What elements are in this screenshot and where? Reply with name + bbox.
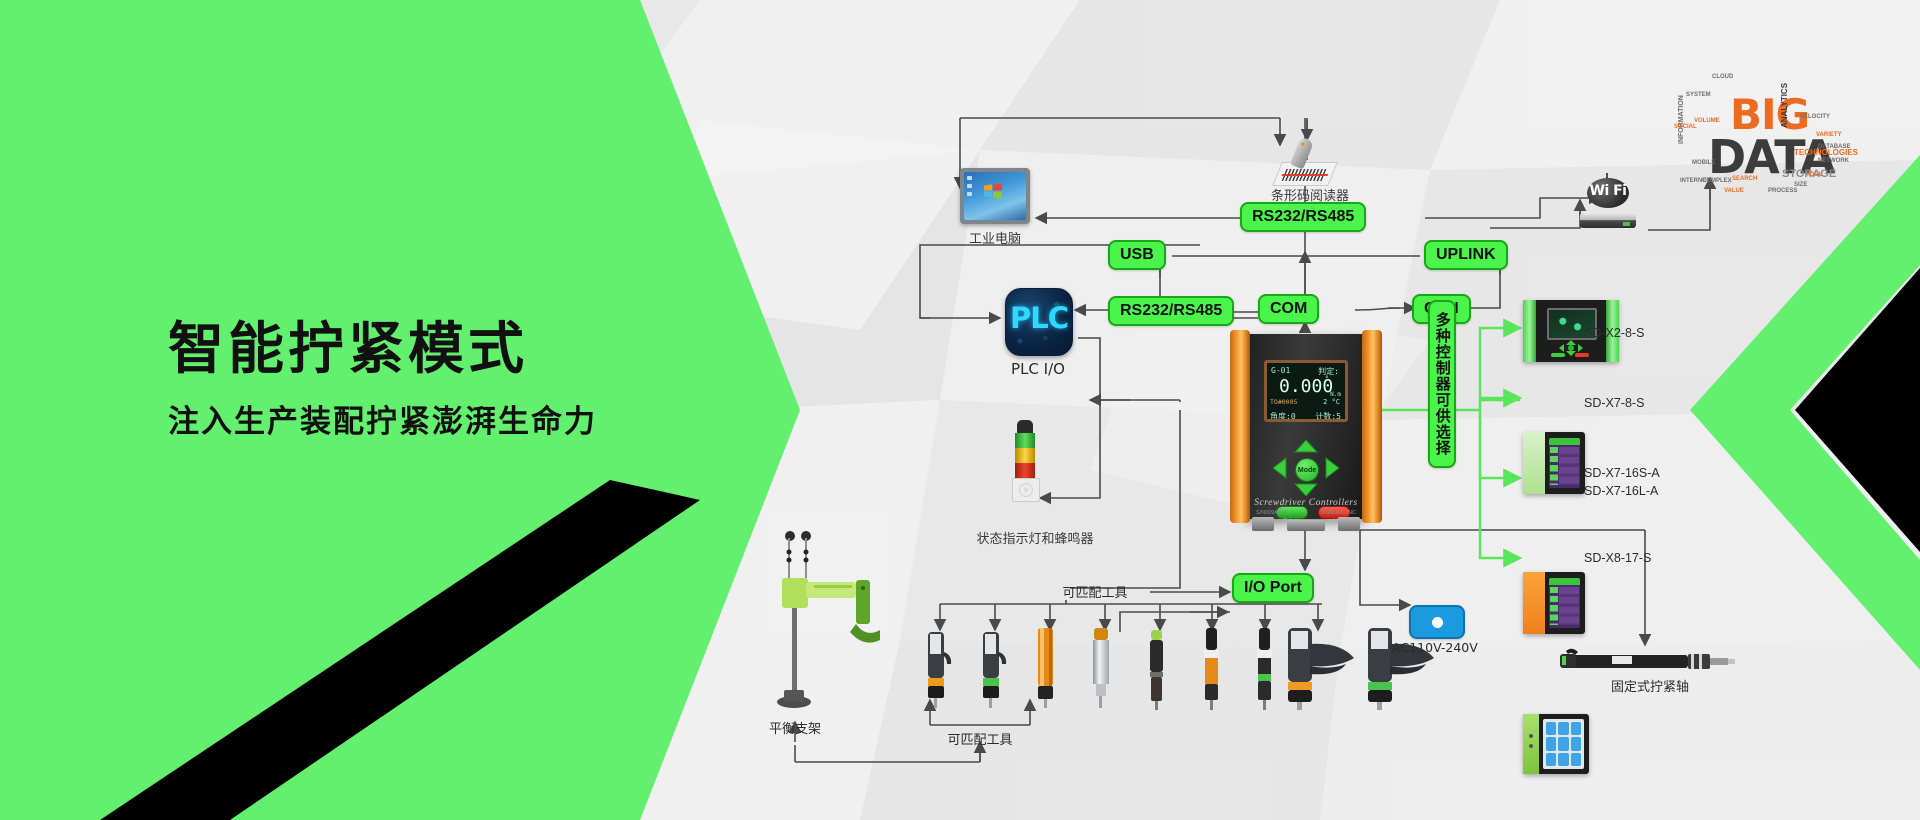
lcd-program: G-01: [1271, 366, 1290, 375]
device-dpad-icon: [1559, 340, 1583, 361]
windows-logo-icon: [984, 183, 1002, 199]
ac-power-label: AC110V-240V: [1380, 640, 1490, 655]
tool-icon: [970, 630, 1010, 708]
plc-io-label: PLC I/O: [990, 360, 1086, 378]
tool-pistol-1[interactable]: [1280, 628, 1358, 710]
controller-rail-left: [1230, 330, 1250, 523]
device-sd-x7-8-s[interactable]: [1523, 432, 1585, 494]
controller-keypad[interactable]: Mode: [1273, 440, 1339, 496]
screen-tile: [1571, 737, 1581, 750]
main-controller[interactable]: G-01 判定: 0.000 ° N.m TO#0005 2 °C 角度:0 计…: [1230, 330, 1382, 530]
screen-menu: [1550, 587, 1558, 625]
label-uplink[interactable]: UPLINK: [1424, 240, 1508, 270]
desktop-icon: [967, 184, 972, 188]
model-label-sd-x2-8-s: SD-X2-8-S: [1584, 325, 1644, 342]
device-screen: [1549, 438, 1580, 488]
tool-screwdriver-6[interactable]: [1190, 628, 1230, 710]
screen-tile: [1571, 722, 1581, 735]
plc-io-node[interactable]: PLC: [1005, 288, 1073, 356]
device-led: [1529, 744, 1533, 748]
industrial-pc-label: 工业电脑: [940, 228, 1050, 247]
bigdata-word: INTERNET: [1680, 178, 1710, 184]
tool-icon: [1280, 628, 1358, 710]
screen-titlebar: [1549, 578, 1580, 585]
stack-light-green: [1015, 433, 1035, 448]
tool-icon: [1243, 628, 1283, 710]
stack-light[interactable]: [1015, 420, 1035, 498]
screen-tile: [1558, 722, 1568, 735]
balance-stand-label: 平衡支架: [735, 718, 855, 737]
tool-screwdriver-7[interactable]: [1243, 628, 1283, 710]
lcd-job: TO#0005: [1270, 398, 1297, 406]
page-subtitle: 注入生产装配拧紧澎湃生命力: [168, 396, 597, 441]
lcd-angle: 角度:0: [1270, 411, 1296, 422]
stack-light-icon: [1015, 420, 1035, 498]
label-rs232-top[interactable]: RS232/RS485: [1240, 202, 1366, 232]
lcd-temp: 2 °C: [1323, 398, 1340, 406]
bigdata-word: CLOUD: [1712, 74, 1733, 80]
screen-titlebar: [1549, 438, 1580, 445]
bigdata-word: DATABASE: [1818, 144, 1850, 150]
balance-stand-icon: [770, 530, 880, 715]
screen-tile: [1571, 753, 1581, 766]
screen-body: [1559, 447, 1579, 485]
industrial-pc[interactable]: [960, 168, 1030, 224]
banner-stage: 智能拧紧模式 注入生产装配拧紧澎湃生命力: [0, 0, 1920, 820]
industrial-pc-monitor: [960, 168, 1030, 224]
device-led: [1529, 734, 1533, 738]
bigdata-word: PROCESS: [1768, 188, 1797, 194]
device-panel-green: [1523, 432, 1545, 494]
device-screen: [1549, 578, 1580, 628]
screen-tile: [1546, 737, 1556, 750]
label-multi-controller[interactable]: 多种控制器可供选择: [1428, 300, 1456, 468]
tools-top-label: 可匹配工具: [1035, 582, 1155, 601]
label-usb[interactable]: USB: [1108, 240, 1166, 270]
device-screen: [1543, 719, 1584, 769]
mode-button[interactable]: Mode: [1295, 458, 1319, 482]
bigdata-word: VELOCITY: [1800, 114, 1830, 120]
model-label-sd-x7-16s-a: SD-X7-16S-A: [1584, 465, 1660, 482]
desktop-icon: [967, 192, 972, 196]
fixed-spindle-label: 固定式拧紧轴: [1570, 676, 1730, 695]
controller-rail-right: [1362, 330, 1382, 523]
tool-icon: [1135, 630, 1175, 710]
tools-bottom-label: 可匹配工具: [920, 729, 1040, 748]
stack-light-label: 状态指示灯和蜂鸣器: [955, 528, 1115, 547]
barcode-reader[interactable]: [1277, 138, 1339, 186]
controller-port-center: [1287, 520, 1325, 531]
bigdata-word: INFORMATION: [1678, 95, 1685, 144]
power-dot-icon: [1432, 617, 1443, 628]
screen-tile: [1558, 753, 1568, 766]
tool-icon: [1190, 628, 1230, 710]
screen-tile: [1546, 753, 1556, 766]
bigdata-word: MOBILE: [1692, 160, 1715, 166]
lcd-unit-deg: °: [1325, 375, 1329, 383]
stack-light-yellow: [1015, 448, 1035, 463]
stack-light-cap: [1017, 420, 1033, 433]
label-rs232-left[interactable]: RS232/RS485: [1108, 296, 1234, 326]
headline-block: 智能拧紧模式 注入生产装配拧紧澎湃生命力: [168, 318, 597, 441]
lcd-count: 计数:5: [1315, 411, 1341, 422]
label-io-port[interactable]: I/O Port: [1232, 573, 1314, 603]
screen-menu: [1550, 447, 1558, 485]
wifi-router[interactable]: Wi Fi: [1580, 178, 1636, 228]
controller-model-code: 2020DEG.INC: [1321, 510, 1356, 516]
controller-port-right: [1338, 517, 1360, 531]
model-label-sd-x7-16l-a: SD-X7-16L-A: [1584, 483, 1658, 500]
tool-screwdriver-3[interactable]: [1025, 628, 1065, 708]
tool-icon: [1025, 628, 1065, 708]
big-data-wordcloud: BIG DATA ANALYTICS STORAGE TECHNOLOGIES …: [1672, 52, 1887, 202]
stack-light-red: [1015, 463, 1035, 478]
plc-tile-text: PLC: [1006, 301, 1072, 335]
industrial-pc-screen: [964, 172, 1026, 220]
router-base: [1580, 213, 1636, 228]
device-sd-x7-16-a[interactable]: [1523, 572, 1585, 634]
bigdata-word: ANALYTICS: [1780, 83, 1789, 128]
tool-screwdriver-2[interactable]: [970, 630, 1010, 708]
bigdata-word: TOOL: [1806, 172, 1823, 178]
controller-serial: S/N009A001: [1256, 510, 1287, 516]
barcode-reader-icon: [1277, 138, 1339, 186]
device-screen-content: [1543, 719, 1584, 769]
tool-screwdriver-1[interactable]: [915, 630, 955, 708]
controller-port-left: [1252, 517, 1274, 531]
tool-icon: [915, 630, 955, 708]
bigdata-word: VOLUME: [1694, 118, 1720, 124]
lcd-unit-torque: N.m: [1330, 391, 1341, 398]
tool-screwdriver-5[interactable]: [1135, 630, 1175, 710]
screen-tile: [1558, 737, 1568, 750]
controller-brand: Screwdriver Controllers: [1230, 498, 1382, 508]
wifi-label: Wi Fi: [1587, 183, 1629, 199]
device-sd-x8-17-s[interactable]: [1523, 714, 1589, 774]
controller-unit: G-01 判定: 0.000 ° N.m TO#0005 2 °C 角度:0 计…: [1230, 330, 1382, 530]
bigdata-word: VARIETY: [1816, 132, 1842, 138]
screen-tile: [1546, 722, 1556, 735]
balance-stand[interactable]: [770, 530, 880, 715]
fixed-spindle-icon: [1560, 645, 1735, 675]
device-screen-content: [1549, 438, 1580, 488]
ac-power-badge[interactable]: [1409, 605, 1465, 639]
tool-screwdriver-4[interactable]: [1080, 628, 1120, 708]
desktop-icon: [967, 176, 972, 180]
device-green-button: [1551, 353, 1565, 357]
device-red-button: [1575, 353, 1589, 357]
bigdata-word: NETWORK: [1818, 158, 1849, 164]
tool-icon: [1080, 628, 1120, 708]
label-com[interactable]: COM: [1258, 294, 1319, 324]
bigdata-word: SOCIAL: [1674, 124, 1697, 130]
model-label-sd-x8-17-s: SD-X8-17-S: [1584, 550, 1651, 567]
model-label-sd-x7-8-s: SD-X7-8-S: [1584, 395, 1644, 412]
screen-body: [1559, 587, 1579, 625]
fixed-spindle[interactable]: [1560, 645, 1735, 675]
plc-tile: PLC: [1005, 288, 1073, 356]
bigdata-word: VALUE: [1724, 188, 1744, 194]
wifi-icon: Wi Fi: [1580, 178, 1636, 228]
device-rail-left: [1523, 300, 1536, 362]
device-panel-orange: [1523, 572, 1545, 634]
bigdata-word: SEARCH: [1732, 176, 1757, 182]
controller-lcd: G-01 判定: 0.000 ° N.m TO#0005 2 °C 角度:0 计…: [1264, 360, 1348, 422]
buzzer-base: [1012, 478, 1040, 502]
page-title: 智能拧紧模式: [168, 318, 597, 382]
bigdata-word: SYSTEM: [1686, 92, 1711, 98]
device-screen-content: [1549, 578, 1580, 628]
